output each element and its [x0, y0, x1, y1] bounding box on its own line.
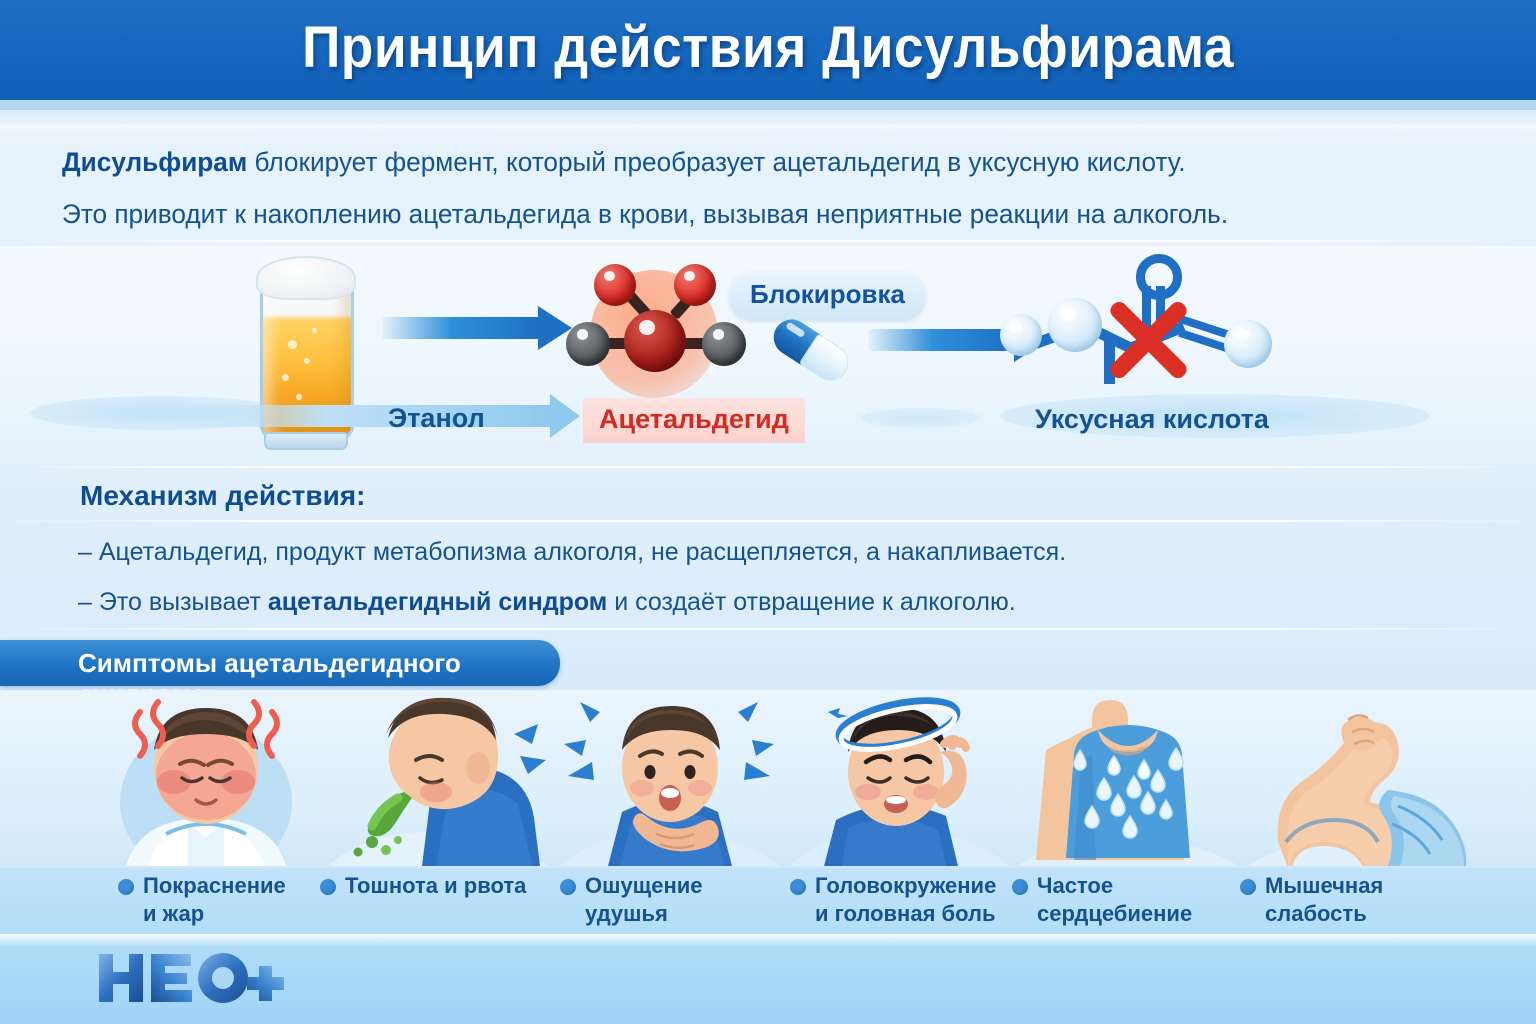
- vomiting-figure: [328, 694, 548, 866]
- atom-hydrogen: [566, 322, 610, 366]
- symptom-figure-card: [328, 694, 548, 866]
- label-line-2: и головная боль: [815, 901, 996, 926]
- acetaldehyde-molecule-icon: [562, 258, 762, 403]
- mechanism-bullet-1: – Ацетальдегид, продукт метабопизма алко…: [78, 538, 1066, 567]
- symptom-label-4: Головокружениеи головная боль: [790, 872, 1010, 928]
- symptom-label-2: Тошнота и рвота: [320, 872, 540, 900]
- bubble: [288, 340, 297, 349]
- blockade-badge: Блокировка: [730, 272, 925, 319]
- intro-line-1-rest: блокирует фермент, который преобразует а…: [247, 147, 1185, 177]
- bubble: [304, 358, 310, 364]
- label-line-1: Мышечная: [1265, 873, 1383, 898]
- page-title: Принцип действия Дисульфирама: [61, 14, 1474, 81]
- bubble: [282, 374, 289, 381]
- beer-foam: [256, 256, 356, 300]
- puddle-mid: [860, 408, 980, 428]
- atom-sphere: [1048, 298, 1102, 352]
- arrow-ethanol-label-band: [180, 394, 580, 438]
- neo-plus-logo-icon: [95, 950, 285, 1006]
- bullet-dot-icon: [320, 879, 336, 895]
- atom-sphere: [1000, 314, 1042, 356]
- bottom-wave: [0, 934, 1536, 946]
- atom-carbon-center: [624, 310, 686, 372]
- ethanol-label: Этанол: [388, 403, 485, 434]
- acetic-acid-label: Уксусная кислота: [1035, 404, 1269, 435]
- divider-top: [0, 240, 1536, 242]
- symptom-label-text: Мышечнаяслабость: [1265, 872, 1383, 928]
- divider-under-mech-title: [0, 520, 1536, 522]
- divider-mechanism: [0, 466, 1536, 468]
- symptom-figure-card: [1248, 694, 1468, 866]
- symptom-figure-card: [96, 694, 316, 866]
- symptom-label-text: Тошнота и рвота: [345, 872, 526, 900]
- label-line-2: и жар: [143, 901, 204, 926]
- atom-oxygen: [674, 264, 716, 306]
- header-banner: Принцип действия Дисульфирама: [0, 0, 1536, 100]
- intro-line-2: Это приводит к накоплению ацетальдегида …: [62, 198, 1420, 232]
- bullet-dot-icon: [560, 879, 576, 895]
- atom-oxygen: [594, 264, 636, 306]
- blocked-x-icon: [1098, 292, 1194, 388]
- bullet-2-post: и создаёт отвращение к алкоголю.: [607, 588, 1015, 616]
- label-line-2: сердцебиение: [1037, 901, 1192, 926]
- symptoms-header-banner: Симптомы ацетальдегидного синдрома:: [0, 640, 560, 686]
- mechanism-bullet-2: – Это вызывает ацетальдегидный синдром и…: [78, 588, 1016, 617]
- intro-drug-name: Дисульфирам: [62, 147, 247, 177]
- symptom-label-6: Мышечнаяслабость: [1240, 872, 1450, 928]
- flushed-face-figure: [96, 694, 316, 866]
- bullet-dot-icon: [790, 879, 806, 895]
- bullet-dot-icon: [1012, 879, 1028, 895]
- atom-hydrogen: [702, 322, 746, 366]
- divider-symptoms: [0, 628, 1536, 630]
- header-glow: [0, 100, 1536, 146]
- intro-text-block: Дисульфирам блокирует фермент, который п…: [62, 146, 1462, 250]
- weak-arm-figure: [1248, 694, 1468, 866]
- acetaldehyde-label: Ацетальдегид: [583, 398, 805, 443]
- acetic-acid-molecule-icon: [990, 262, 1280, 392]
- label-line-1: Покраснение: [143, 873, 286, 898]
- symptom-label-text: Ошущение удушья: [585, 872, 790, 928]
- atom-sphere: [1224, 320, 1272, 368]
- infographic-page: Принцип действия Дисульфирама Дисульфира…: [0, 0, 1536, 1024]
- symptom-label-text: Частоесердцебиение: [1037, 872, 1192, 928]
- label-line-1: Частое: [1037, 873, 1113, 898]
- mechanism-section: Механизм действия: – Ацетальдегид, проду…: [0, 470, 1536, 630]
- dizziness-figure: [790, 694, 1010, 866]
- symptom-label-3: Ошущение удушья: [560, 872, 790, 928]
- bullet-dot-icon: [118, 879, 134, 895]
- bullet-2-emphasis: ацетальдегидный синдром: [268, 588, 607, 616]
- sweating-torso-figure: [1018, 694, 1238, 866]
- mechanism-title: Механизм действия:: [80, 480, 365, 512]
- symptom-label-1: Покраснениеи жар: [118, 872, 328, 928]
- label-line-1: Головокружение: [815, 873, 996, 898]
- choking-figure: [560, 694, 780, 866]
- label-line-2: слабость: [1265, 901, 1367, 926]
- symptom-figure-card: [560, 694, 780, 866]
- symptom-label-text: Головокружениеи головная боль: [815, 872, 996, 928]
- bubble: [312, 328, 317, 333]
- symptom-label-text: Покраснениеи жар: [143, 872, 286, 928]
- bullet-2-pre: – Это вызывает: [78, 588, 268, 616]
- symptom-figure-card: [1018, 694, 1238, 866]
- brand-logo: [95, 950, 285, 1006]
- arrow-ethanol-to-acetaldehyde: [382, 306, 572, 350]
- intro-line-1: Дисульфирам блокирует фермент, который п…: [62, 146, 1420, 180]
- symptom-labels-row: Покраснениеи жар Тошнота и рвота Ошущени…: [0, 872, 1536, 942]
- bullet-dot-icon: [1240, 879, 1256, 895]
- symptom-figure-card: [790, 694, 1010, 866]
- symptom-label-5: Частоесердцебиение: [1012, 872, 1232, 928]
